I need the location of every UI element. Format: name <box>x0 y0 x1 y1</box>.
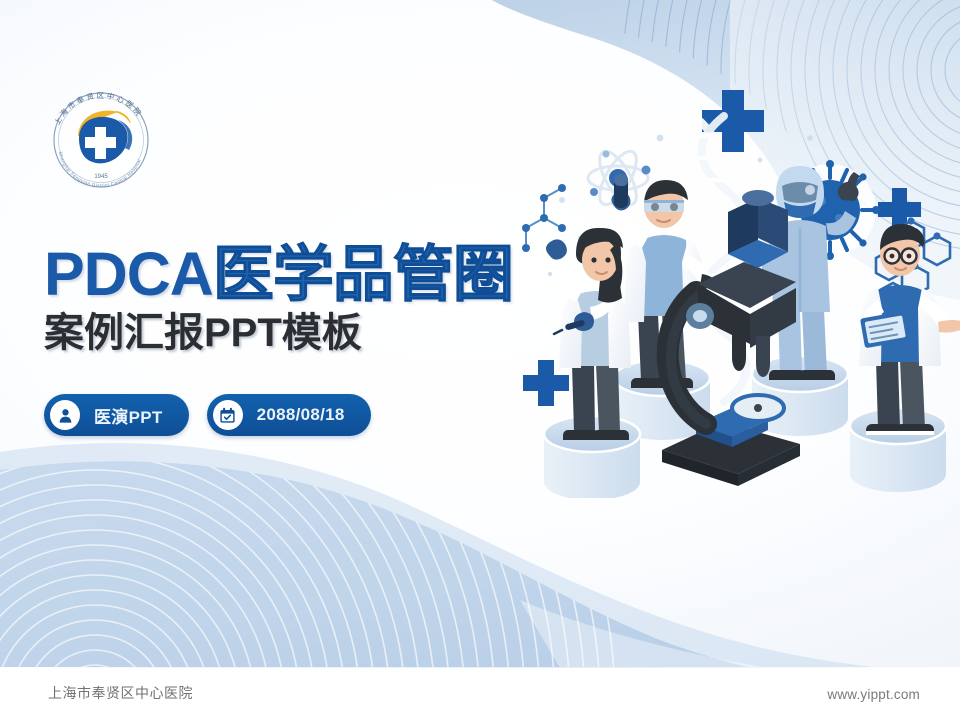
title-cn: 医学品管圈 <box>213 240 513 308</box>
footer-website: www.yippt.com <box>827 687 920 702</box>
calendar-check-icon <box>213 400 243 430</box>
title-en: PDCA <box>44 240 213 308</box>
date-badge[interactable]: 2088/08/18 <box>207 394 371 436</box>
page-subtitle: 案例汇报PPT模板 <box>44 312 513 354</box>
footer-organization: 上海市奉贤区中心医院 <box>48 683 193 703</box>
author-badge[interactable]: 医演PPT <box>44 394 189 436</box>
person-icon <box>50 400 80 430</box>
slide-root: 上海市奉贤区中心医院 Shanghai Fengxian District Ce… <box>0 0 960 720</box>
female-scientist-with-molecule <box>546 228 631 440</box>
footer-divider <box>0 667 960 668</box>
hospital-logo: 上海市奉贤区中心医院 Shanghai Fengxian District Ce… <box>45 88 157 192</box>
male-doctor-with-clipboard <box>859 224 960 435</box>
medical-research-team-illustration <box>510 78 960 498</box>
logo-year: 1945 <box>94 174 108 180</box>
meta-badges: 医演PPT 2088/08/18 <box>44 394 371 436</box>
author-badge-label: 医演PPT <box>90 403 163 428</box>
page-title: PDCA医学品管圈 <box>44 243 513 305</box>
title-block: PDCA医学品管圈 案例汇报PPT模板 <box>44 243 513 354</box>
date-badge-label: 2088/08/18 <box>253 405 345 425</box>
